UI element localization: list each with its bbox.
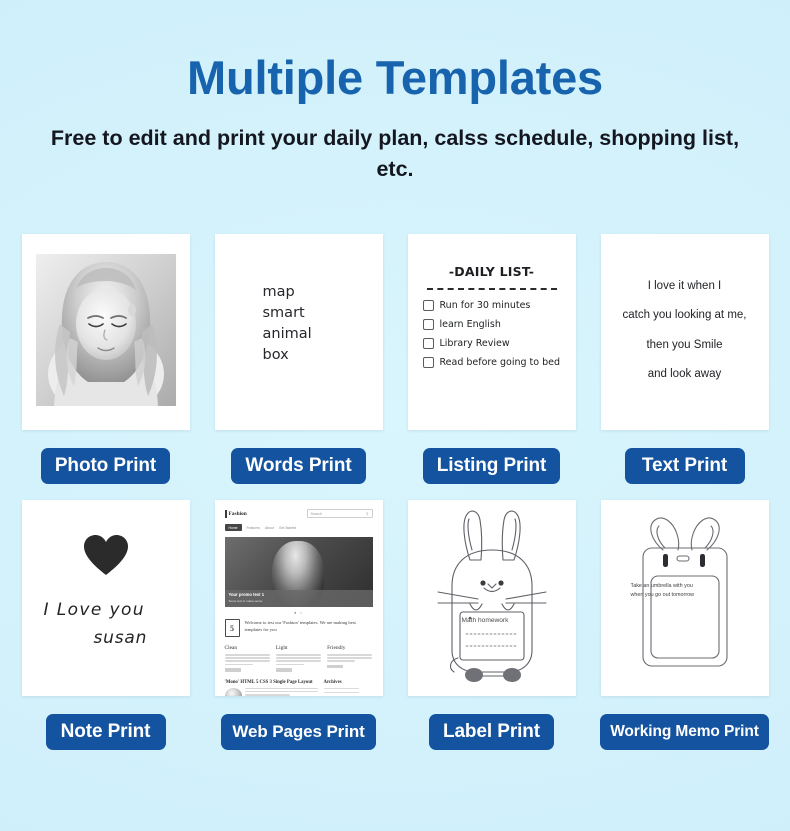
word-item: box [263,345,312,366]
text-placeholder-line [276,660,321,662]
quote-line: then you Smile [609,331,761,360]
checkbox-icon[interactable] [423,300,434,311]
read-more-button[interactable] [327,665,343,668]
hero-caption-title: Your promo text 1 [229,592,369,597]
template-preview-label-print[interactable]: Math homework [408,500,576,696]
tag-clip-left-icon [663,554,668,567]
site-archives-title: Archives [324,680,373,685]
text-placeholder-line [245,694,290,696]
text-placeholder-line [327,657,372,659]
template-row-2: I Love you susan Note Print Fashion [0,500,790,750]
site-feature-title: Friendly [327,645,372,651]
template-cell-working-memo-print: Take an umbrella with you when you go ou… [601,500,769,750]
read-more-button[interactable] [276,668,292,671]
site-nav-item[interactable]: About [265,524,274,531]
listing-print-button[interactable]: Listing Print [423,448,561,484]
tag-clip-right-icon [700,554,705,567]
template-cell-words-print: map smart animal box Words Print [215,234,383,484]
text-placeholder-line [245,688,318,690]
word-item: map [263,282,312,303]
archive-link[interactable] [324,688,359,690]
heart-icon [83,534,129,576]
site-post-body [225,688,318,696]
girl-portrait-illustration [36,254,176,406]
hero-caption: Your promo text 1 Some text to make sens… [225,590,373,607]
memo-note-text: Take an umbrella with you when you go ou… [631,582,697,601]
daily-list: -DAILY LIST- Run for 30 minutes learn En… [423,264,561,376]
page-subtitle: Free to edit and print your daily plan, … [50,123,740,184]
note-print-button[interactable]: Note Print [46,714,166,750]
text-placeholder-line [225,664,253,666]
site-nav-item[interactable]: Get Started [279,524,296,531]
quote-line: and look away [609,360,761,389]
checkbox-icon[interactable] [423,357,434,368]
site-nav: Home Features About Get Started [225,524,373,531]
label-print-button[interactable]: Label Print [429,714,554,750]
rabbit-eye-right-icon [498,580,503,585]
checkbox-icon[interactable] [423,338,434,349]
post-thumbnail-image [225,688,242,696]
site-post-title[interactable]: 'Mono' HTML 5 CSS 3 Single Page Layout [225,680,318,685]
working-memo-print-button[interactable]: Working Memo Print [600,714,769,750]
text-placeholder-line [276,657,321,659]
note-line-1: I Love you [44,600,145,620]
site-post-block: 'Mono' HTML 5 CSS 3 Single Page Layout [225,680,318,696]
text-placeholder-line [276,664,304,666]
quote-line: I love it when I [609,272,761,301]
template-preview-working-memo-print[interactable]: Take an umbrella with you when you go ou… [601,500,769,696]
site-feature-columns: Clean Light [225,645,373,672]
html5-badge-icon: 5 [225,619,240,637]
template-cell-web-pages-print: Fashion Search ⚲ Home Features About Get [215,500,383,750]
daily-list-title: -DAILY LIST- [423,264,561,279]
label-note-text: Math homework [462,617,509,624]
word-item: animal [263,324,312,345]
web-pages-print-button[interactable]: Web Pages Print [221,714,375,750]
checklist-item-label: Library Review [440,338,510,349]
rabbit-foot-right-icon [503,668,521,682]
template-preview-listing-print[interactable]: -DAILY LIST- Run for 30 minutes learn En… [408,234,576,430]
template-cell-text-print: I love it when I catch you looking at me… [601,234,769,484]
templates-promo-page: Multiple Templates Free to edit and prin… [0,0,790,831]
archive-link[interactable] [324,692,359,694]
text-placeholder-line [327,654,372,656]
logo-bar-icon [225,510,227,518]
words-print-button[interactable]: Words Print [231,448,365,484]
header: Multiple Templates Free to edit and prin… [0,0,790,184]
page-title: Multiple Templates [0,54,790,101]
text-placeholder-line [245,691,318,693]
quote-text: I love it when I catch you looking at me… [609,272,761,389]
rabbit-foot-left-icon [465,668,483,682]
template-preview-words-print[interactable]: map smart animal box [215,234,383,430]
checklist-item[interactable]: learn English [423,319,561,330]
text-print-button[interactable]: Text Print [625,448,745,484]
site-search-placeholder: Search [311,512,322,516]
webpage-mockup: Fashion Search ⚲ Home Features About Get [215,500,383,696]
post-excerpt [245,688,318,696]
template-cell-label-print: Math homework Label Print [408,500,576,750]
photo-print-button[interactable]: Photo Print [41,448,170,484]
site-footer-block: 'Mono' HTML 5 CSS 3 Single Page Layout [225,680,373,696]
template-preview-photo-print[interactable] [22,234,190,430]
site-welcome-block: 5 Welcome to test our 'Fashion' template… [225,619,373,637]
text-placeholder-line [276,654,321,656]
hero-caption-subtitle: Some text to make sense [229,599,369,603]
checklist-item[interactable]: Library Review [423,338,561,349]
quote-line: catch you looking at me, [609,301,761,330]
site-archives-block: Archives [324,680,373,696]
template-preview-note-print[interactable]: I Love you susan [22,500,190,696]
site-nav-item[interactable]: Features [247,524,260,531]
checklist-item[interactable]: Read before going to bed [423,357,561,368]
text-placeholder-line [327,660,355,662]
webpage-header: Fashion Search ⚲ [225,509,373,518]
text-placeholder-line [225,657,270,659]
site-hero-banner: Your promo text 1 Some text to make sens… [225,537,373,607]
note-line-2: susan [94,628,148,648]
text-placeholder-line [225,660,270,662]
site-feature-column: Clean [225,645,270,672]
site-nav-item[interactable]: Home [225,524,242,531]
rabbit-eye-left-icon [480,580,485,585]
word-list: map smart animal box [263,282,312,367]
checklist-item[interactable]: Run for 30 minutes [423,300,561,311]
checklist-item-label: Read before going to bed [440,357,561,368]
template-cell-photo-print: Photo Print [22,234,190,484]
template-row-1: Photo Print map smart animal box Words P… [0,234,790,484]
checklist-item-label: learn English [440,319,501,330]
hero-carousel-dots[interactable]: ● ○ [225,610,373,615]
search-icon[interactable]: ⚲ [366,512,369,516]
template-cell-note-print: I Love you susan Note Print [22,500,190,750]
site-feature-title: Light [276,645,321,651]
site-welcome-text: Welcome to test our 'Fashion' templates.… [245,619,373,633]
site-search-box[interactable]: Search ⚲ [307,509,373,518]
site-feature-title: Clean [225,645,270,651]
checklist-item-label: Run for 30 minutes [440,300,531,311]
photo-portrait-image [36,254,176,406]
word-item: smart [263,303,312,324]
template-cell-listing-print: -DAILY LIST- Run for 30 minutes learn En… [408,234,576,484]
checkbox-icon[interactable] [423,319,434,330]
rabbit-label-illustration [408,500,576,696]
read-more-button[interactable] [225,668,241,671]
template-grid: Photo Print map smart animal box Words P… [0,234,790,750]
site-feature-column: Friendly [327,645,372,672]
template-preview-web-pages-print[interactable]: Fashion Search ⚲ Home Features About Get [215,500,383,696]
site-feature-column: Light [276,645,321,672]
dashed-divider [427,288,557,290]
text-placeholder-line [225,654,270,656]
site-logo: Fashion [225,510,247,518]
site-logo-label: Fashion [229,511,247,517]
template-preview-text-print[interactable]: I love it when I catch you looking at me… [601,234,769,430]
